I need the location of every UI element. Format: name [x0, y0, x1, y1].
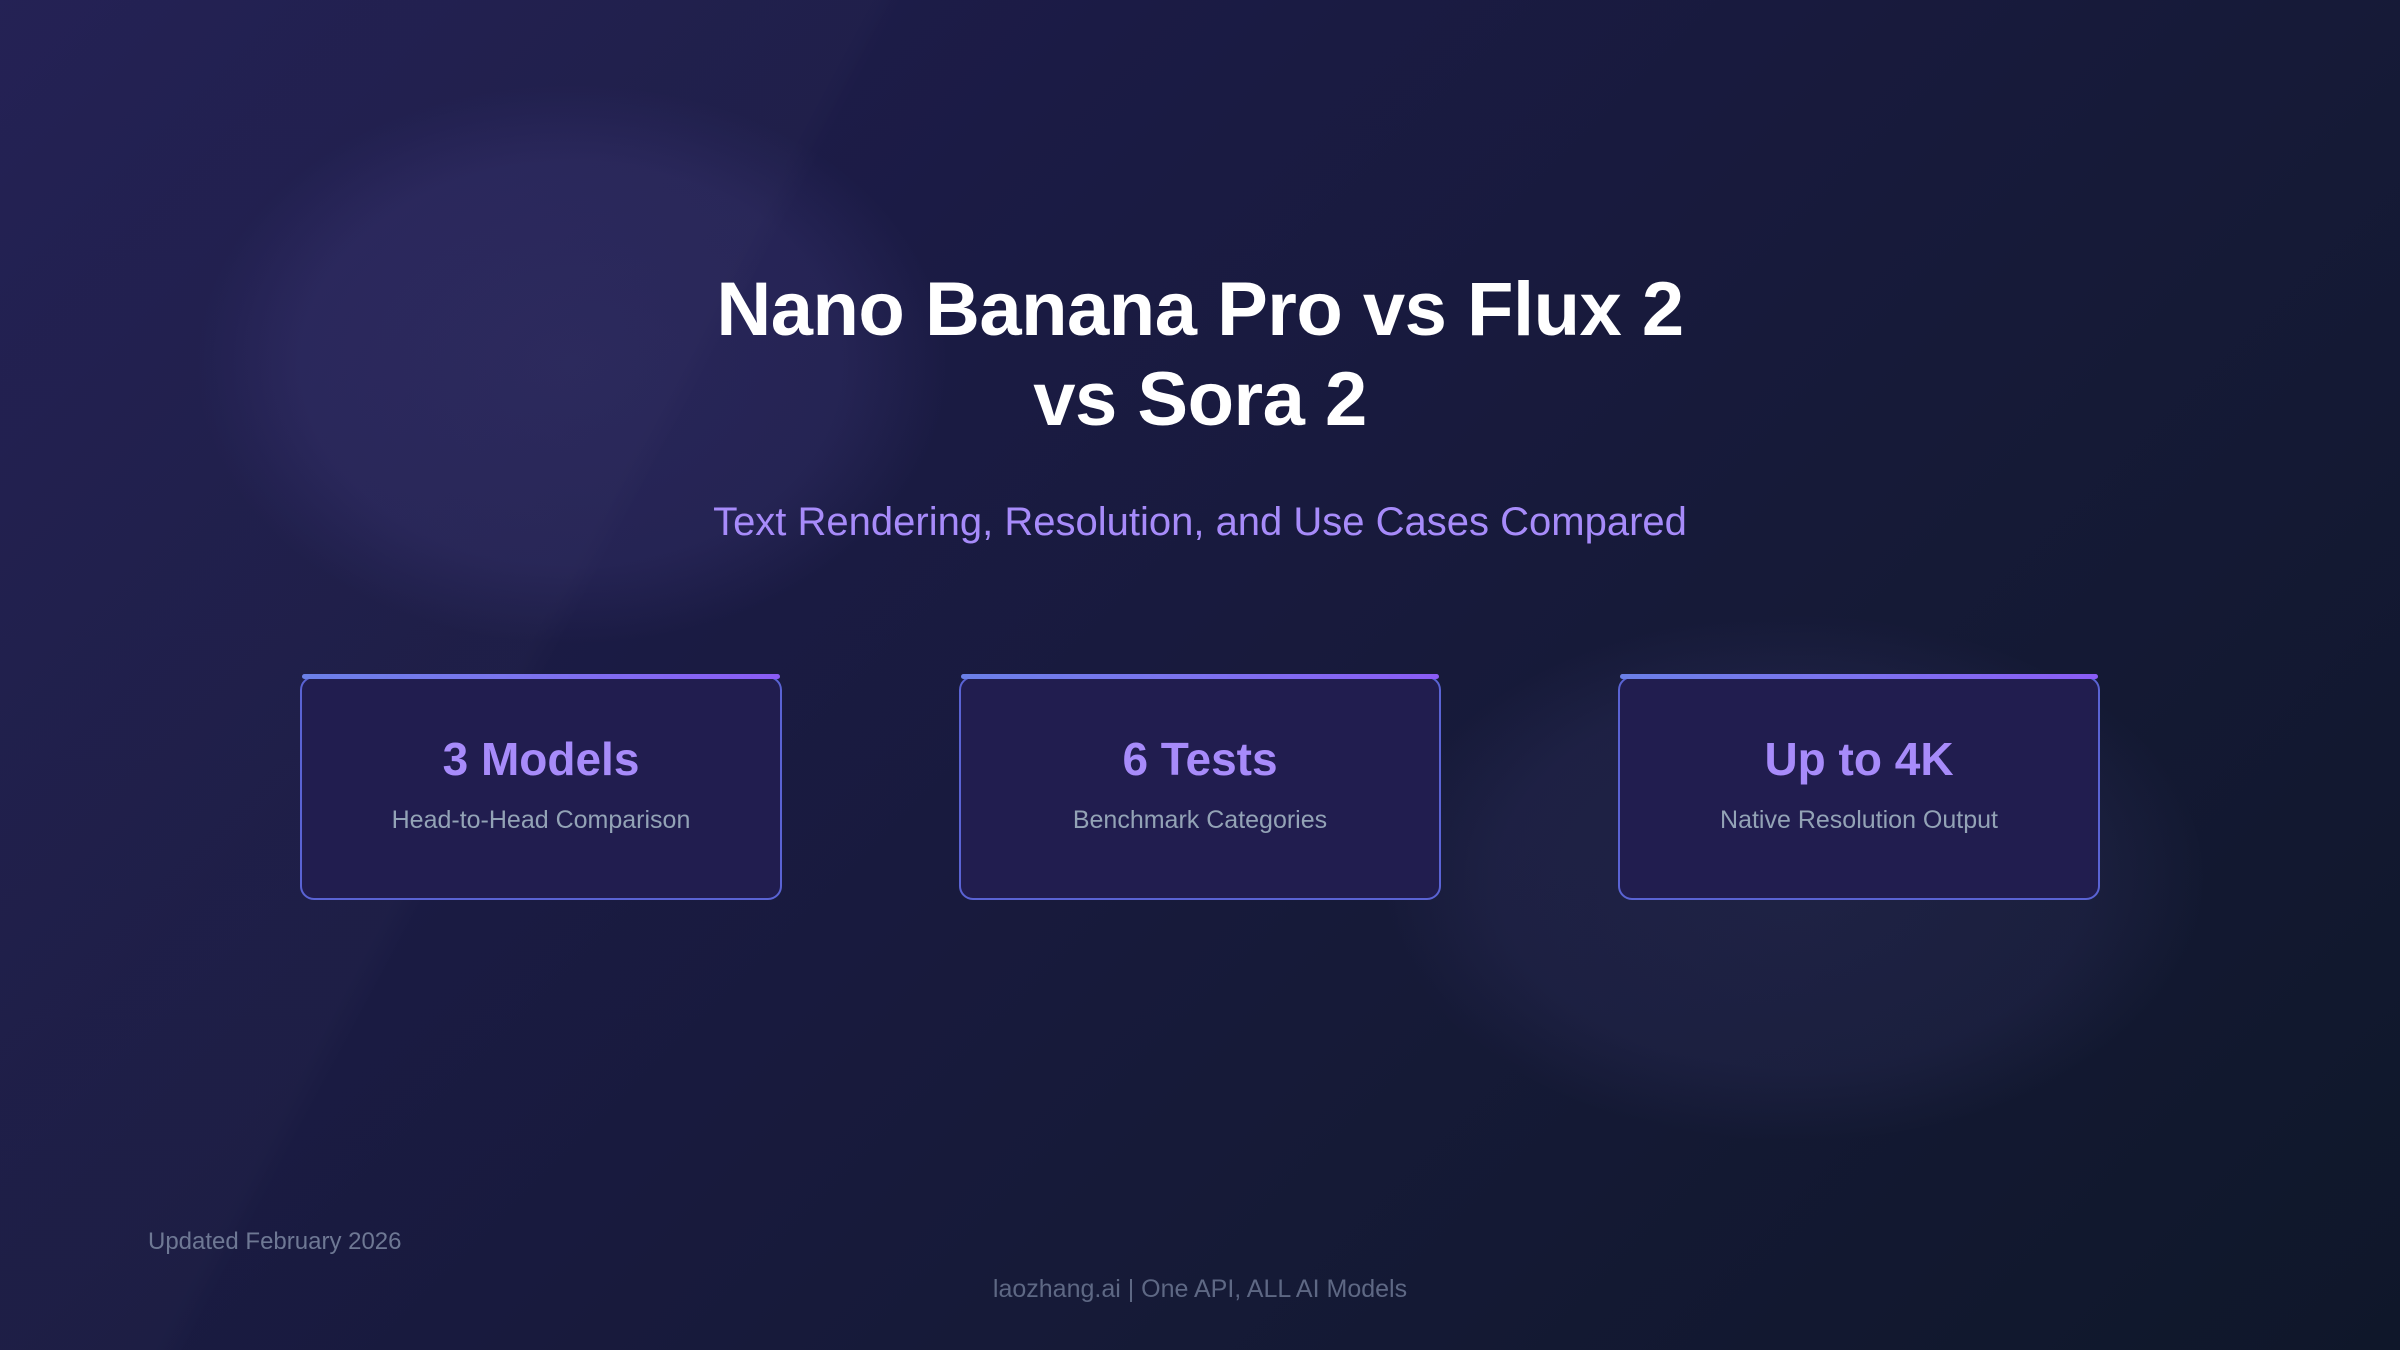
- page-title: Nano Banana Pro vs Flux 2 vs Sora 2: [0, 265, 2400, 444]
- stat-card-models: 3 Models Head-to-Head Comparison: [300, 676, 782, 900]
- updated-note: Updated February 2026: [148, 1228, 402, 1256]
- stat-label: Benchmark Categories: [1073, 806, 1327, 835]
- page-subtitle: Text Rendering, Resolution, and Use Case…: [0, 500, 2400, 545]
- stat-label: Head-to-Head Comparison: [392, 806, 691, 835]
- page-title-line-2: vs Sora 2: [0, 355, 2400, 445]
- page-title-line-1: Nano Banana Pro vs Flux 2: [0, 265, 2400, 355]
- slide-stage: Nano Banana Pro vs Flux 2 vs Sora 2 Text…: [0, 0, 2400, 1350]
- stat-card-group: 3 Models Head-to-Head Comparison 6 Tests…: [300, 676, 2100, 900]
- brand-footer: laozhang.ai | One API, ALL AI Models: [0, 1275, 2400, 1304]
- stat-value: Up to 4K: [1764, 736, 1953, 782]
- stat-label: Native Resolution Output: [1720, 806, 1998, 835]
- stat-card-tests: 6 Tests Benchmark Categories: [959, 676, 1441, 900]
- stat-card-resolution: Up to 4K Native Resolution Output: [1618, 676, 2100, 900]
- stat-value: 6 Tests: [1122, 736, 1277, 782]
- stat-value: 3 Models: [443, 736, 640, 782]
